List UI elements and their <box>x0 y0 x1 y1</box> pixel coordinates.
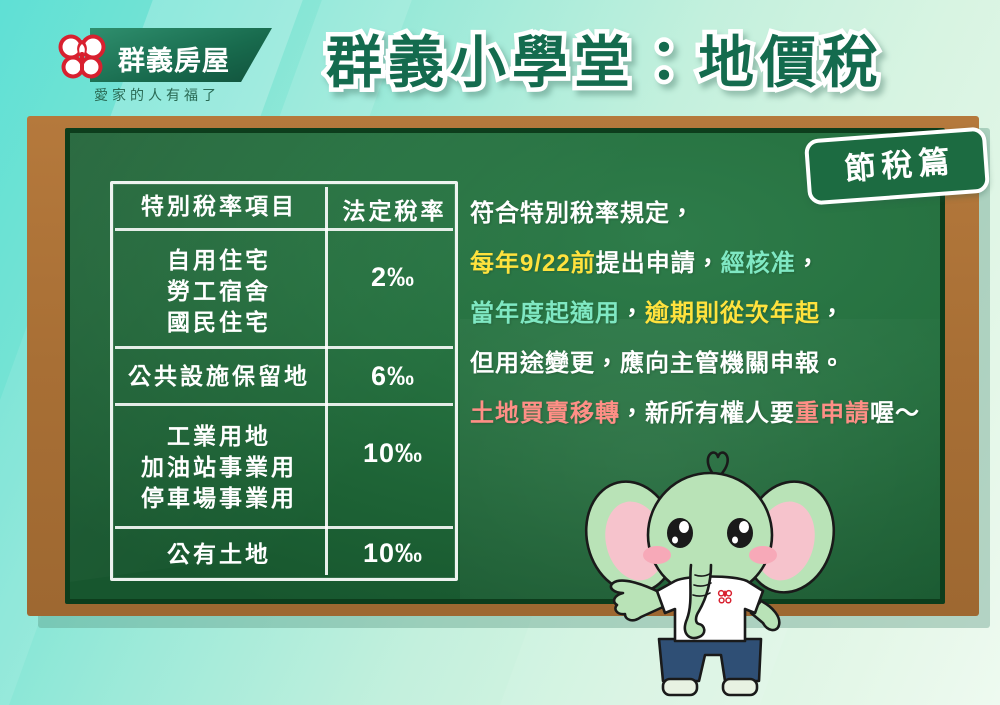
table-cell-rate: 6‰ <box>328 361 458 392</box>
mascot-eye-right <box>727 518 753 548</box>
table-cell-line: 自用住宅 <box>110 245 325 276</box>
mascot-pants <box>659 639 761 681</box>
note-run: ， <box>620 300 645 327</box>
note-run: 符合特別稅率規定， <box>470 200 695 227</box>
table-cell-rate: 2‰ <box>328 262 458 293</box>
brand-logo: 群義房屋 愛家的人有福了 <box>52 26 252 106</box>
mascot-foot-left <box>663 679 697 695</box>
header: 群義房屋 愛家的人有福了 群義小學堂：地價稅 <box>0 0 1000 112</box>
note-run: 土地買賣移轉 <box>470 400 620 427</box>
table-cell-line: 加油站事業用 <box>110 452 325 483</box>
note-run: 當年度起適用 <box>470 300 620 327</box>
brand-name: 群義房屋 <box>118 39 230 78</box>
table-cell-line: 國民住宅 <box>110 307 325 338</box>
table-row-divider <box>115 403 453 406</box>
table-cell-rate: 10‰ <box>328 438 458 469</box>
table-row-divider <box>115 228 453 231</box>
table-row-divider <box>115 346 453 349</box>
note-run: 喔～ <box>870 400 920 427</box>
table-row: 公共設施保留地 <box>110 361 325 392</box>
table-row: 自用住宅 勞工宿舍 國民住宅 <box>110 245 325 338</box>
note-run: 重申請 <box>795 400 870 427</box>
table-cell-line: 公共設施保留地 <box>110 361 325 392</box>
page-title: 群義小學堂：地價稅 <box>255 24 955 102</box>
note-run: ，新所有權人要 <box>620 400 795 427</box>
table-cell-rate: 10‰ <box>328 538 458 569</box>
note-line: 每年9/22前提出申請，經核准， <box>470 239 940 289</box>
note-line: 但用途變更，應向主管機關申報。 <box>470 339 940 389</box>
note-line: 當年度起適用，逾期則從次年起， <box>470 289 940 339</box>
mascot-cheek-left <box>643 546 671 564</box>
poster-root: 群義房屋 愛家的人有福了 群義小學堂：地價稅 <box>0 0 1000 705</box>
tax-rate-table: 特別稅率項目 法定稅率 自用住宅 勞工宿舍 國民住宅 2‰ 公共設施保留地 6‰… <box>110 181 458 581</box>
table-header-rate: 法定稅率 <box>328 192 458 226</box>
note-run: 經核准 <box>721 250 796 277</box>
elephant-mascot <box>565 425 855 705</box>
table-row: 公有土地 <box>110 539 325 570</box>
table-cell-line: 工業用地 <box>110 421 325 452</box>
mascot-eye-left <box>667 518 693 548</box>
note-run: ， <box>796 250 821 277</box>
note-run: 但用途變更，應向主管機關申報。 <box>470 350 845 377</box>
table-row: 工業用地 加油站事業用 停車場事業用 <box>110 421 325 514</box>
table-cell-line: 停車場事業用 <box>110 483 325 514</box>
table-header-item: 特別稅率項目 <box>110 191 325 222</box>
mascot-cheek-right <box>749 546 777 564</box>
brand-tagline: 愛家的人有福了 <box>94 85 220 105</box>
note-run: 逾期則從次年起 <box>645 300 820 327</box>
note-run: 提出申請， <box>596 250 721 277</box>
note-run: ， <box>820 300 845 327</box>
table-cell-line: 勞工宿舍 <box>110 276 325 307</box>
mascot-foot-right <box>723 679 757 695</box>
notes-block: 符合特別稅率規定， 每年9/22前提出申請，經核准， 當年度起適用，逾期則從次年… <box>470 189 940 439</box>
section-badge-label: 節稅篇 <box>808 131 986 202</box>
note-run: 每年9/22前 <box>470 250 596 277</box>
table-row-divider <box>115 526 453 529</box>
table-cell-line: 公有土地 <box>110 539 325 570</box>
clover-flower-icon <box>56 30 108 82</box>
section-badge: 節稅篇 <box>804 126 990 205</box>
